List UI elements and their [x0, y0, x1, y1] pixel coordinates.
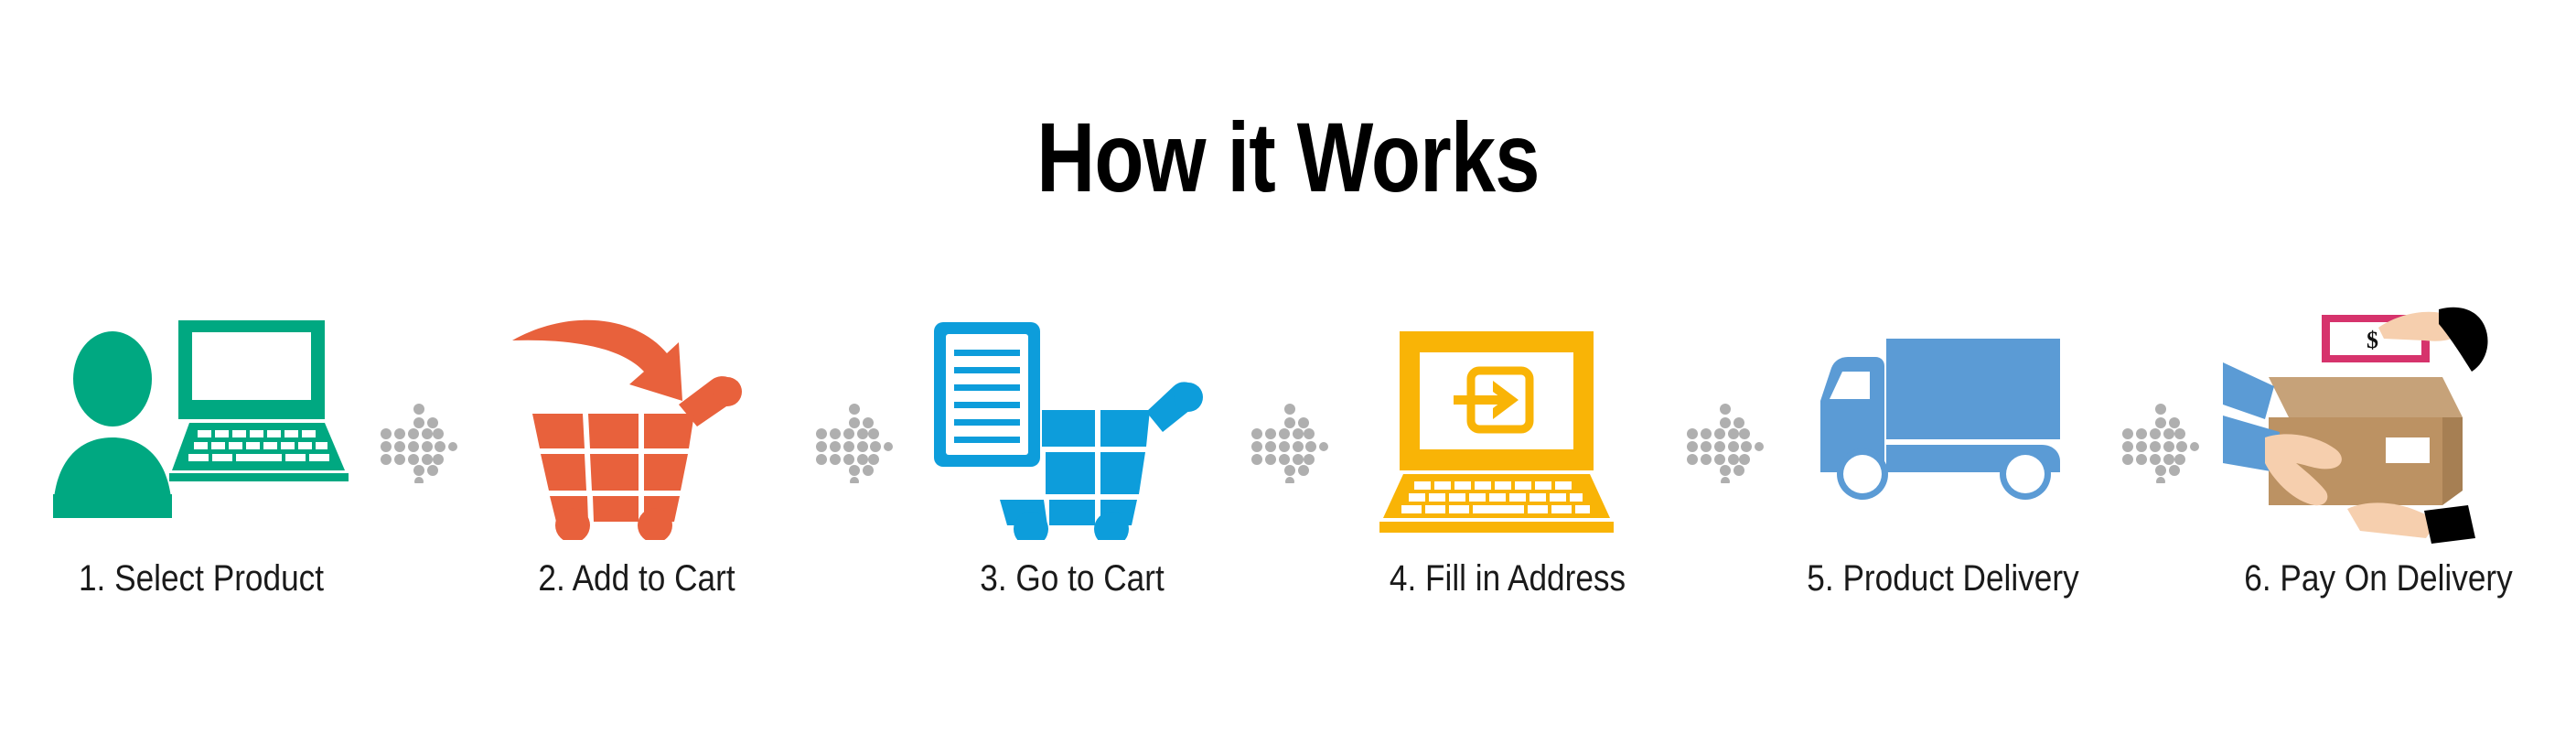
- dollar-symbol: $: [2367, 327, 2378, 353]
- step-5-label: 5. Product Delivery: [1798, 560, 2088, 597]
- dotted-arrow-right-icon: [1249, 401, 1331, 483]
- page-title: How it Works: [231, 108, 2344, 207]
- step-4-label: 4. Fill in Address: [1363, 560, 1653, 597]
- box-top-face: [2269, 377, 2463, 417]
- separator-4: [1681, 302, 1769, 686]
- step-1-label: 1. Select Product: [57, 560, 347, 597]
- step-3-go-to-cart[interactable]: 3. Go to Cart: [907, 302, 1237, 686]
- step-1-select-product[interactable]: 1. Select Product: [37, 302, 366, 686]
- step-3-label: 3. Go to Cart: [928, 560, 1218, 597]
- dotted-arrow-right-icon: [1684, 401, 1766, 483]
- box-side-face: [2442, 417, 2463, 505]
- dotted-arrow-right-icon: [2120, 401, 2202, 483]
- step-6-label: 6. Pay On Delivery: [2234, 560, 2524, 597]
- blue-sleeve-upper: [2223, 362, 2274, 419]
- separator-5: [2117, 302, 2205, 686]
- step-6-icon-area: $: [2214, 302, 2543, 549]
- step-4-fill-in-address[interactable]: 4. Fill in Address: [1343, 302, 1672, 686]
- document-with-cart-icon: [930, 302, 1214, 540]
- box-shipping-label: [2386, 437, 2430, 463]
- step-2-label: 2. Add to Cart: [492, 560, 782, 597]
- step-5-product-delivery[interactable]: 5. Product Delivery: [1778, 302, 2108, 686]
- laptop-login-icon: [1370, 302, 1645, 540]
- receiving-hand: [2347, 502, 2439, 538]
- infographic-page: How it Works: [0, 0, 2576, 745]
- step-2-add-to-cart[interactable]: 2. Add to Cart: [472, 302, 801, 686]
- step-4-icon-area: [1343, 302, 1672, 549]
- step-3-icon-area: [907, 302, 1237, 549]
- person-with-laptop-icon: [50, 302, 352, 540]
- separator-2: [810, 302, 898, 686]
- step-2-icon-area: [472, 302, 801, 549]
- delivery-truck-icon: [1797, 302, 2089, 540]
- dotted-arrow-right-icon: [378, 401, 460, 483]
- steps-row: 1. Select Product: [37, 302, 2543, 686]
- dotted-arrow-right-icon: [813, 401, 896, 483]
- separator-3: [1246, 302, 1334, 686]
- separator-1: [375, 302, 463, 686]
- black-sleeve-bottom: [2424, 505, 2475, 544]
- box-handover-cash-icon: $: [2223, 302, 2534, 549]
- step-1-icon-area: [37, 302, 366, 549]
- cart-with-arrow-icon: [499, 302, 774, 540]
- step-6-pay-on-delivery[interactable]: $: [2214, 302, 2543, 686]
- step-5-icon-area: [1778, 302, 2108, 549]
